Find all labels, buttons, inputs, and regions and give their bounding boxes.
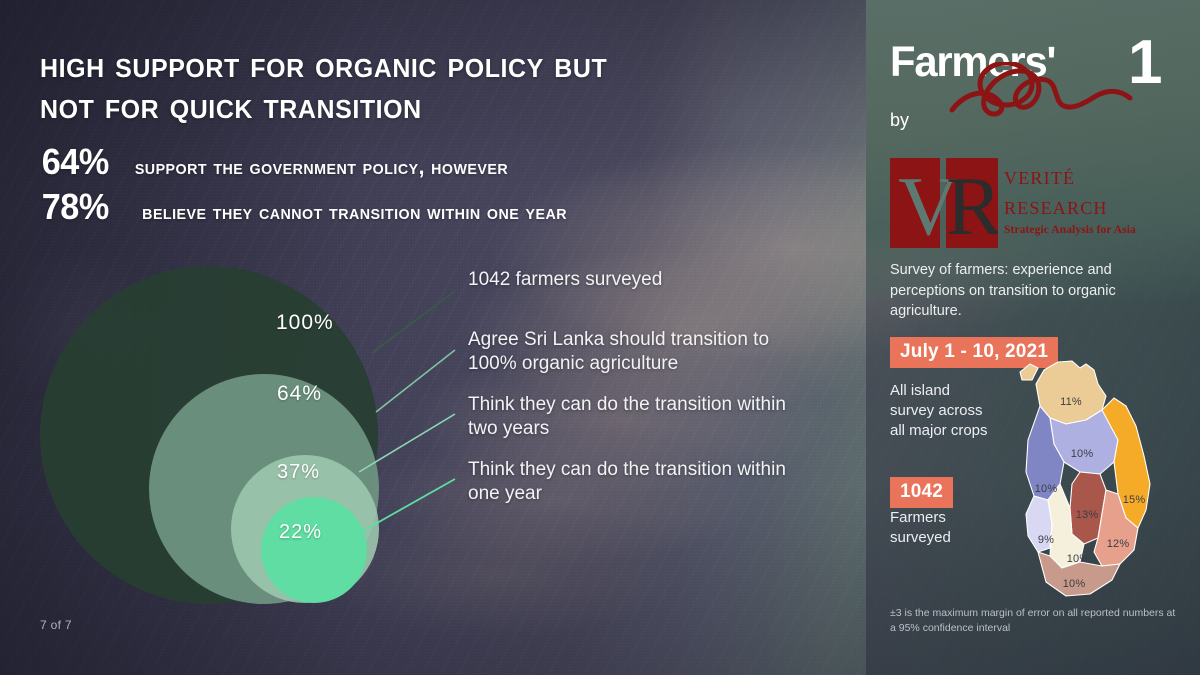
- map-regions: [1014, 358, 1190, 606]
- map-label-north-central: 10%: [1071, 448, 1094, 460]
- brand-by-label: by: [890, 110, 909, 131]
- circle-label-22: 22%: [279, 521, 322, 544]
- circle-label-100: 100%: [276, 311, 334, 335]
- logo-word-research: Research: [1004, 192, 1136, 222]
- map-label-north-west: 10%: [1035, 483, 1058, 495]
- callout-label-agree: Agree Sri Lanka should transition to 100…: [468, 328, 813, 377]
- svg-text:R: R: [946, 160, 998, 248]
- map-label-sabaragamuwa: 10%: [1067, 553, 1090, 565]
- nested-circle-chart: 100% 64% 37% 22%: [0, 0, 520, 420]
- pulse-script-logo: [946, 62, 1136, 122]
- callout-label-two-years: Think they can do the transition within …: [468, 393, 798, 442]
- vr-monogram-icon: V R: [890, 158, 998, 248]
- logo-word-verite: Verité: [1004, 162, 1136, 192]
- callout-label-surveyed: 1042 farmers surveyed: [468, 268, 798, 292]
- sri-lanka-map: 11% 10% 15% 10% 13% 12% 9% 10% 10%: [1014, 358, 1190, 606]
- circle-label-37: 37%: [277, 461, 320, 484]
- infographic-slide: High support for organic policy but not …: [0, 0, 1200, 675]
- map-label-west: 9%: [1038, 534, 1054, 546]
- count-badge: 1042: [890, 477, 953, 508]
- margin-of-error-footnote: ±3 is the maximum margin of error on all…: [890, 606, 1180, 636]
- circle-label-64: 64%: [277, 382, 322, 406]
- circle-22: [261, 497, 367, 603]
- brand-lockup: Farmers' 1 by: [890, 38, 1180, 158]
- map-island-jaffna: [1020, 364, 1038, 380]
- map-label-east: 15%: [1123, 494, 1146, 506]
- map-label-north: 11%: [1060, 396, 1082, 408]
- map-label-south: 10%: [1063, 578, 1086, 590]
- count-caption: Farmers surveyed: [890, 508, 1000, 548]
- page-number: 7 of 7: [40, 618, 72, 632]
- map-label-central: 13%: [1076, 509, 1099, 521]
- logo-tagline: Strategic Analysis for Asia: [1004, 224, 1136, 236]
- verite-research-logo: V R Verité Research Strategic Analysis f…: [890, 158, 1162, 250]
- island-survey-text: All island survey across all major crops: [890, 381, 995, 441]
- survey-description: Survey of farmers: experience and percep…: [890, 260, 1146, 322]
- map-label-uva: 12%: [1107, 538, 1130, 550]
- callout-label-one-year: Think they can do the transition within …: [468, 458, 798, 507]
